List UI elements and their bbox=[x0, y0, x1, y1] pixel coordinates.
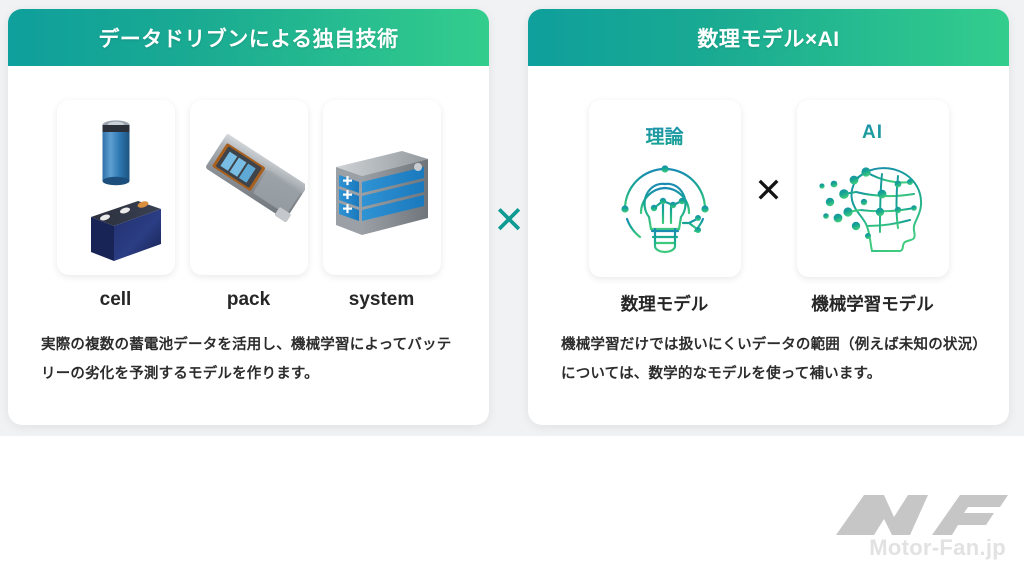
battery-pack-icon bbox=[193, 113, 305, 263]
battery-cell-icon bbox=[61, 105, 171, 270]
panel-math-model-ai: 数理モデル×AI 理論 bbox=[528, 9, 1009, 425]
battery-system-icon bbox=[328, 123, 436, 253]
tile-row-battery-stages: cell bbox=[8, 66, 489, 311]
cylindrical-cell bbox=[102, 120, 129, 185]
tile-row-model-types: 理論 bbox=[528, 66, 1009, 316]
tile-label-math-model: 数理モデル bbox=[621, 291, 709, 316]
panel-description-math-model-ai: 機械学習だけでは扱いにくいデータの範囲（例えば未知の状況）については、数学的なモ… bbox=[561, 331, 983, 389]
prismatic-cell bbox=[91, 200, 161, 261]
lightbulb-network-icon bbox=[605, 151, 725, 263]
tile-label-ml-model: 機械学習モデル bbox=[811, 291, 934, 316]
tile-caption-theory: 理論 bbox=[645, 122, 683, 149]
panel-header-math-model-ai: 数理モデル×AI bbox=[528, 9, 1009, 66]
panel-header-data-driven: データドリブンによる独自技術 bbox=[8, 9, 489, 66]
tile-pack bbox=[190, 100, 308, 275]
tile-ml-model: AI bbox=[797, 100, 949, 277]
tile-system bbox=[323, 100, 441, 275]
tile-math-model: 理論 bbox=[589, 100, 741, 277]
tile-label-system: system bbox=[349, 289, 415, 311]
panel-body-math-model-ai: 理論 bbox=[528, 66, 1009, 425]
pack-body bbox=[203, 133, 304, 222]
panel-description-data-driven: 実際の複数の蓄電池データを活用し、機械学習によってバッテリーの劣化を予測するモデ… bbox=[41, 331, 463, 389]
tile-group-pack: pack bbox=[190, 100, 308, 311]
multiply-icon-between-panels: ✕ bbox=[489, 196, 529, 244]
tile-group-ml-model: AI bbox=[797, 100, 949, 316]
panel-body-data-driven: cell bbox=[8, 66, 489, 425]
diagram-canvas: データドリブンによる独自技術 bbox=[0, 0, 1024, 571]
multiply-icon-inner: ✕ bbox=[741, 174, 797, 208]
tile-label-cell: cell bbox=[100, 289, 132, 311]
tile-label-pack: pack bbox=[227, 289, 270, 311]
panel-title: データドリブンによる独自技術 bbox=[98, 23, 398, 53]
tile-cell bbox=[57, 100, 175, 275]
panel-data-driven: データドリブンによる独自技術 bbox=[8, 9, 489, 425]
tile-group-system: system bbox=[323, 100, 441, 311]
panel-title: 数理モデル×AI bbox=[697, 23, 839, 53]
watermark-text: Motor-Fan.jp bbox=[869, 535, 1006, 561]
tile-group-cell: cell bbox=[57, 100, 175, 311]
tile-caption-ai: AI bbox=[862, 122, 883, 144]
tile-group-math-model: 理論 bbox=[589, 100, 741, 316]
system-body bbox=[336, 151, 428, 235]
ai-head-network-icon bbox=[810, 146, 936, 258]
